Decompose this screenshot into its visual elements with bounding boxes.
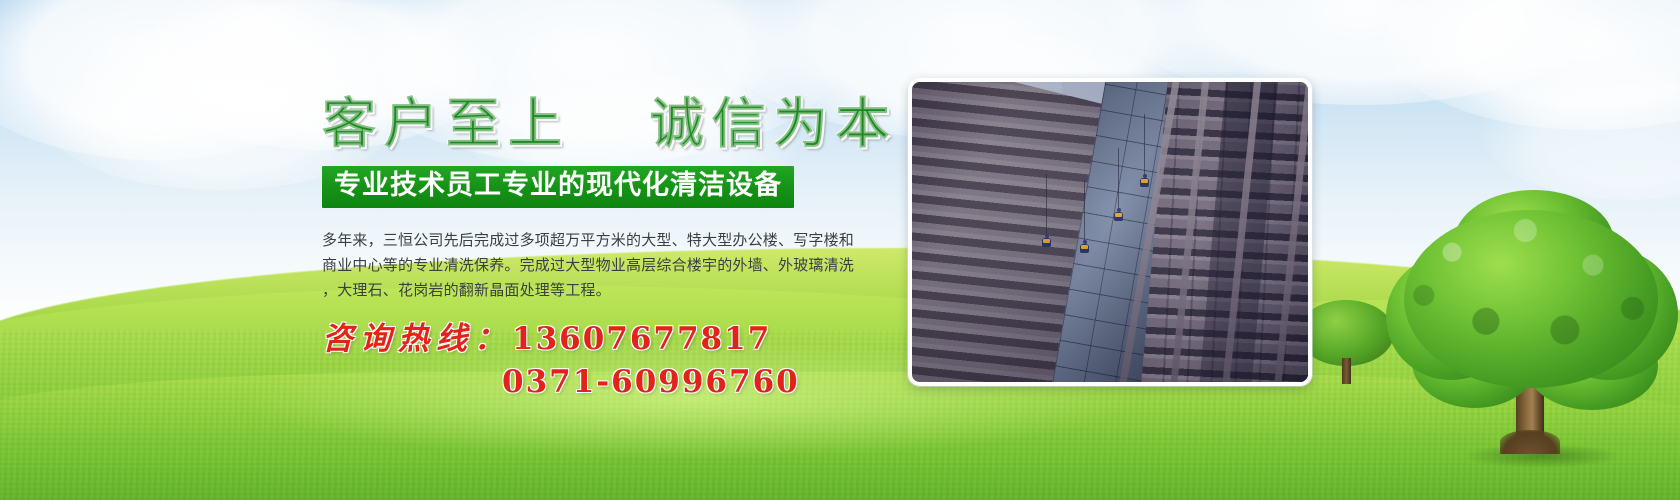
hotline-label: 咨询热线： bbox=[322, 321, 512, 357]
building-photo bbox=[912, 82, 1308, 382]
small-tree-canopy bbox=[1298, 300, 1394, 366]
rope-access-worker bbox=[1080, 240, 1089, 253]
worker-head bbox=[1045, 234, 1049, 238]
hero-banner: 客户至上 诚信为本 专业技术员工专业的现代化清洁设备 多年来，三恒公司先后完成过… bbox=[0, 0, 1680, 500]
worker-vest bbox=[1115, 213, 1122, 217]
description-paragraph: 多年来，三恒公司先后完成过多项超万平方米的大型、特大型办公楼、写字楼和 商业中心… bbox=[322, 228, 888, 303]
paragraph-line-2: 商业中心等的专业清洗保养。完成过大型物业高层综合楼宇的外墙、外玻璃清洗 bbox=[322, 253, 888, 278]
worker-rope bbox=[1144, 114, 1145, 176]
subtitle-bar-text: 专业技术员工专业的现代化清洁设备 bbox=[334, 172, 782, 200]
worker-head bbox=[1083, 240, 1087, 244]
worker-head bbox=[1117, 208, 1121, 212]
headline-part-2: 诚信为本 bbox=[650, 91, 898, 155]
hotline-row: 咨询热线：13607677817 bbox=[322, 321, 902, 358]
worker-vest bbox=[1081, 245, 1088, 249]
tree-canopy-main bbox=[1404, 210, 1658, 388]
hotline-landline-number[interactable]: 0371-60996760 bbox=[322, 364, 902, 400]
paragraph-line-3: ，大理石、花岗岩的翻新晶面处理等工程。 bbox=[322, 278, 888, 303]
worker-head bbox=[1143, 174, 1147, 178]
worker-vest bbox=[1043, 239, 1050, 243]
worker-rope bbox=[1118, 148, 1119, 210]
headline: 客户至上 诚信为本 bbox=[322, 96, 902, 150]
contact-block: 咨询热线：13607677817 0371-60996760 bbox=[322, 321, 902, 400]
paragraph-line-1: 多年来，三恒公司先后完成过多项超万平方米的大型、特大型办公楼、写字楼和 bbox=[322, 228, 888, 253]
subtitle-bar: 专业技术员工专业的现代化清洁设备 bbox=[322, 166, 794, 208]
rope-access-worker bbox=[1042, 234, 1051, 247]
headline-part-1: 客户至上 bbox=[322, 91, 570, 155]
hotline-mobile-number[interactable]: 13607677817 bbox=[512, 321, 771, 357]
worker-vest bbox=[1141, 179, 1148, 183]
small-tree bbox=[1298, 300, 1394, 388]
rope-access-worker bbox=[1114, 208, 1123, 221]
building-photo-frame bbox=[908, 78, 1312, 386]
big-tree bbox=[1390, 196, 1672, 464]
small-tree-trunk bbox=[1342, 358, 1351, 384]
rope-access-worker bbox=[1140, 174, 1149, 187]
worker-rope bbox=[1046, 174, 1047, 236]
banner-copy: 客户至上 诚信为本 专业技术员工专业的现代化清洁设备 多年来，三恒公司先后完成过… bbox=[322, 96, 902, 400]
worker-rope bbox=[1084, 180, 1085, 242]
